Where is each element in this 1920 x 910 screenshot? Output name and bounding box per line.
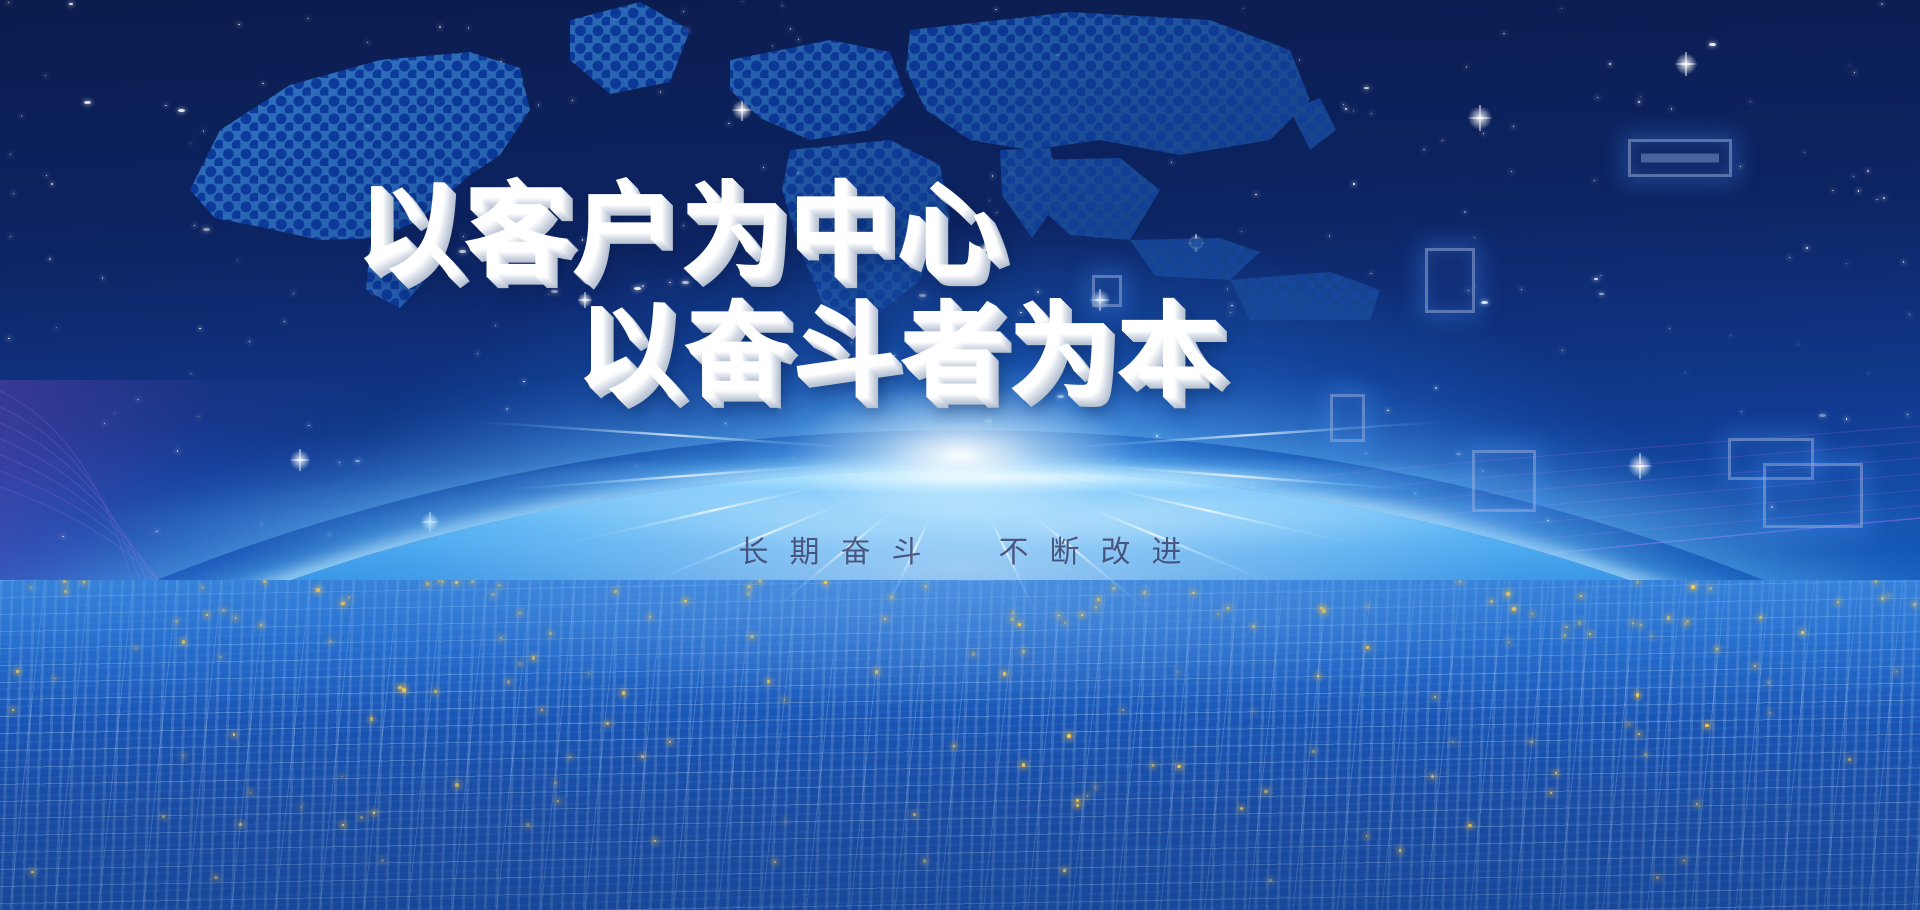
sparkle-star xyxy=(1627,453,1653,479)
sparkle-star xyxy=(1187,234,1205,252)
decor-frame-bar-top-right xyxy=(1628,139,1732,177)
decor-frame-tall-lower-right xyxy=(1472,450,1536,512)
banner-stage: 以客户为中心 以奋斗者为本 长期奋斗 不断改进 xyxy=(0,0,1920,910)
horizon-light-streak xyxy=(0,446,1920,510)
starfield xyxy=(0,0,1920,910)
orbit-arc-lines xyxy=(0,330,1920,690)
sparkle-star xyxy=(420,512,440,532)
light-burst xyxy=(210,245,1710,665)
subtitle-block: 长期奋斗 不断改进 xyxy=(0,527,1920,571)
subtitle-part-2: 不断改进 xyxy=(977,527,1202,571)
sparkle-star xyxy=(1089,289,1111,311)
earth-atmosphere-glow xyxy=(0,430,1920,910)
headline-line-1: 以客户为中心 xyxy=(0,180,1920,284)
aerial-city-night xyxy=(0,580,1920,910)
decor-frame-wide-bottom-right xyxy=(1763,463,1863,528)
city-avenues xyxy=(0,580,1920,910)
dotted-world-map xyxy=(170,0,1470,320)
headline-block: 以客户为中心 以奋斗者为本 xyxy=(0,180,1920,404)
horizon-haze xyxy=(0,420,1920,580)
decor-frame-square-mid-right xyxy=(1425,248,1475,313)
city-base xyxy=(0,580,1920,910)
sparkle-star xyxy=(977,242,993,258)
decor-frame-small-left-of-globe xyxy=(1330,394,1365,442)
subtitle-part-1: 长期奋斗 xyxy=(718,527,943,571)
sparkle-star xyxy=(1331,511,1349,529)
decor-frame-small-top-right xyxy=(1092,275,1122,307)
sparkle-star xyxy=(731,99,753,121)
sparkle-star xyxy=(1467,105,1493,131)
sparkle-star xyxy=(289,449,311,471)
city-haze xyxy=(0,580,1920,910)
city-blocks xyxy=(0,580,1920,910)
city-streets xyxy=(0,580,1920,910)
sparkle-star xyxy=(577,292,593,308)
light-rays xyxy=(310,265,1610,645)
left-contour-lines xyxy=(0,385,430,715)
earth-sphere xyxy=(0,470,1920,910)
purple-corner-wash xyxy=(0,380,420,710)
decor-frame-bar-lower-right xyxy=(1728,438,1814,480)
sparkle-star xyxy=(1674,52,1698,76)
headline-line-2: 以奋斗者为本 xyxy=(0,300,1920,404)
earth-horizon xyxy=(0,0,1920,910)
